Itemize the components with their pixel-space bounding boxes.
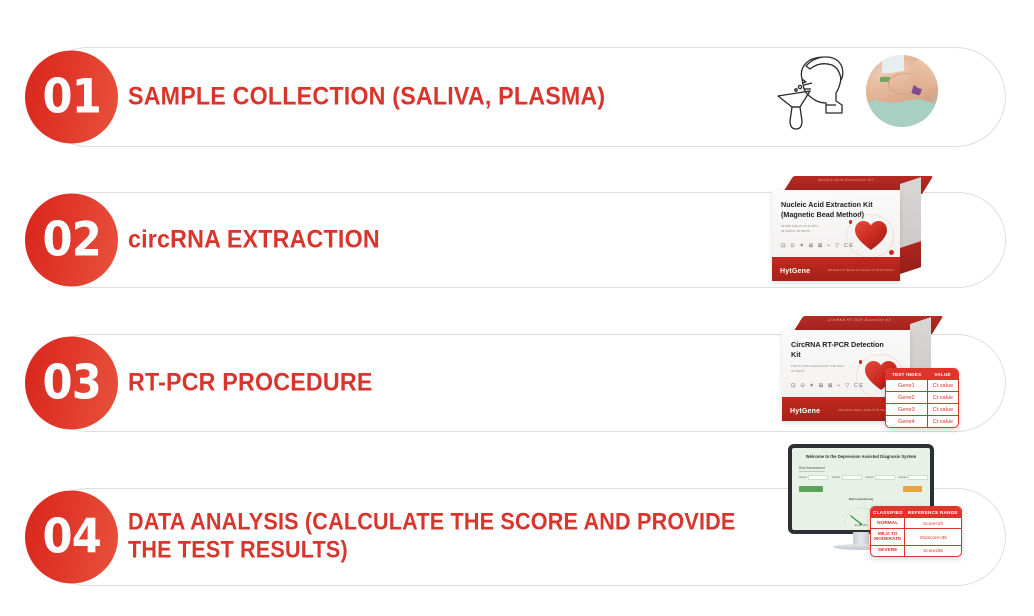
- gene-ct-value-table: TEST INDEX VALUE Gene1 Ct value Gene2 Ct…: [885, 368, 959, 428]
- table-row: SEVERE Score≥35: [871, 545, 961, 556]
- regulatory-symbols: ⊡ ⊙ ✦ ⊞ ⊠ ⌁ ▽ CE: [781, 243, 855, 249]
- brand-logo: HytGene: [790, 408, 820, 415]
- cell-reference-range: 20≤Score<35: [905, 529, 961, 546]
- step-number-badge: 03: [25, 337, 118, 430]
- gene-input-field[interactable]: Gene1: [799, 475, 828, 480]
- column-header-classified: CLASSIFIED: [871, 507, 905, 518]
- step-number-badge: 04: [25, 491, 118, 584]
- cell-gene: Gene1: [886, 380, 927, 392]
- field-input[interactable]: [908, 475, 928, 480]
- brand-logo: HytGene: [780, 268, 810, 275]
- step-number: 02: [42, 217, 100, 264]
- table-row: Gene4 Ct value: [886, 416, 958, 428]
- cell-reference-range: Score<20: [905, 518, 961, 529]
- workflow-step-4: 04 DATA ANALYSIS (CALCULATE THE SCORE AN…: [0, 488, 1034, 586]
- field-input[interactable]: [875, 475, 895, 480]
- cell-classification: NORMAL: [871, 518, 905, 529]
- heart-icon: [854, 220, 888, 252]
- gauge-label: Risk Level (Score): [792, 497, 930, 501]
- reset-button[interactable]: [903, 486, 922, 492]
- step-number-badge: 02: [25, 194, 118, 287]
- extraction-kit-art: Nucleic Acid Extraction Kit Nucleic Acid…: [772, 176, 932, 292]
- nucleic-acid-extraction-kit-box: Nucleic Acid Extraction Kit Nucleic Acid…: [772, 176, 922, 281]
- cell-gene: Gene2: [886, 392, 927, 404]
- table-header-row: CLASSIFIED REFERENCE RANGE: [871, 507, 961, 518]
- rt-pcr-art: CircRNA RT-PCR Detection Kit CircRNA RT-…: [782, 316, 958, 436]
- cell-reference-range: Score≥35: [905, 545, 961, 556]
- cell-gene: Gene3: [886, 404, 927, 416]
- cell-value: Ct value: [927, 416, 958, 428]
- gene-input-field[interactable]: Gene2: [832, 475, 861, 480]
- gene-input-field[interactable]: Gene3: [866, 475, 895, 480]
- table-row: Gene2 Ct value: [886, 392, 958, 404]
- classification-reference-table: CLASSIFIED REFERENCE RANGE NORMAL Score<…: [870, 506, 962, 557]
- blood-draw-photo: [866, 55, 938, 127]
- sample-collection-art: [766, 45, 956, 149]
- box-flap-text: CircRNA RT-PCR Detection Kit: [827, 318, 909, 322]
- field-input[interactable]: [842, 475, 862, 480]
- cell-classification: SEVERE: [871, 545, 905, 556]
- column-header-test-index: TEST INDEX: [886, 369, 927, 380]
- field-label: Gene1: [799, 476, 807, 479]
- step-number: 03: [42, 360, 100, 407]
- regulatory-symbols: ⊡ ⊙ ✦ ⊞ ⊠ ⌁ ▽ CE: [791, 383, 865, 389]
- screen-title: Welcome to the Depression Assisted Diagn…: [792, 454, 930, 459]
- cell-gene: Gene4: [886, 416, 927, 428]
- decorative-dot: [889, 250, 894, 255]
- step-title: SAMPLE COLLECTION (SALIVA, PLASMA): [128, 82, 605, 112]
- box-bottom-band: HytGene MAGNETIC BEAD NUCLEIC ACID EXTRA…: [772, 257, 900, 281]
- table-row: Gene3 Ct value: [886, 404, 958, 416]
- step-number: 01: [42, 74, 100, 121]
- band-subtext: MAGNETIC BEAD NUCLEIC ACID EXTRACTION KI…: [828, 268, 894, 272]
- workflow-step-3: 03 RT-PCR PROCEDURE CircRNA RT-PCR Detec…: [0, 334, 1034, 432]
- saliva-collection-icon: [766, 49, 858, 135]
- calculate-score-button[interactable]: [799, 486, 823, 492]
- cell-value: Ct value: [927, 392, 958, 404]
- table-header-row: TEST INDEX VALUE: [886, 369, 958, 380]
- step-number: 04: [42, 514, 100, 561]
- table-row: MILD TO MODERATE 20≤Score<35: [871, 529, 961, 546]
- column-header-value: VALUE: [927, 369, 958, 380]
- gene-input-field[interactable]: Gene4: [899, 475, 928, 480]
- field-input[interactable]: [808, 475, 828, 480]
- cell-value: Ct value: [927, 380, 958, 392]
- workflow-step-1: 01 SAMPLE COLLECTION (SALIVA, PLASMA): [0, 47, 1034, 147]
- step-number-badge: 01: [25, 51, 118, 144]
- step-title: circRNA EXTRACTION: [128, 225, 380, 255]
- workflow-step-2: 02 circRNA EXTRACTION Nucleic Acid Extra…: [0, 192, 1034, 288]
- step-title: DATA ANALYSIS (CALCULATE THE SCORE AND P…: [128, 509, 776, 566]
- step-title: RT-PCR PROCEDURE: [128, 368, 373, 398]
- column-header-reference-range: REFERENCE RANGE: [905, 507, 961, 518]
- workflow-diagram: 01 SAMPLE COLLECTION (SALIVA, PLASMA): [0, 0, 1034, 616]
- screen-section-label: Risk Assessment: [799, 466, 825, 472]
- box-front-face: Nucleic Acid Extraction Kit (Magnetic Be…: [772, 190, 900, 281]
- decorative-dot: [859, 360, 863, 364]
- data-analysis-art: Welcome to the Depression Assisted Diagn…: [782, 444, 960, 574]
- gene-input-fields: Gene1 Gene2 Gene3: [799, 475, 928, 480]
- box-flap-text: Nucleic Acid Extraction Kit: [817, 178, 899, 182]
- table-row: Gene1 Ct value: [886, 380, 958, 392]
- field-label: Gene2: [832, 476, 840, 479]
- table-row: NORMAL Score<20: [871, 518, 961, 529]
- decorative-dot: [849, 220, 853, 224]
- cell-classification: MILD TO MODERATE: [871, 529, 905, 546]
- field-label: Gene3: [866, 476, 874, 479]
- box-side-red-band: [900, 241, 921, 274]
- field-label: Gene4: [899, 476, 907, 479]
- cell-value: Ct value: [927, 404, 958, 416]
